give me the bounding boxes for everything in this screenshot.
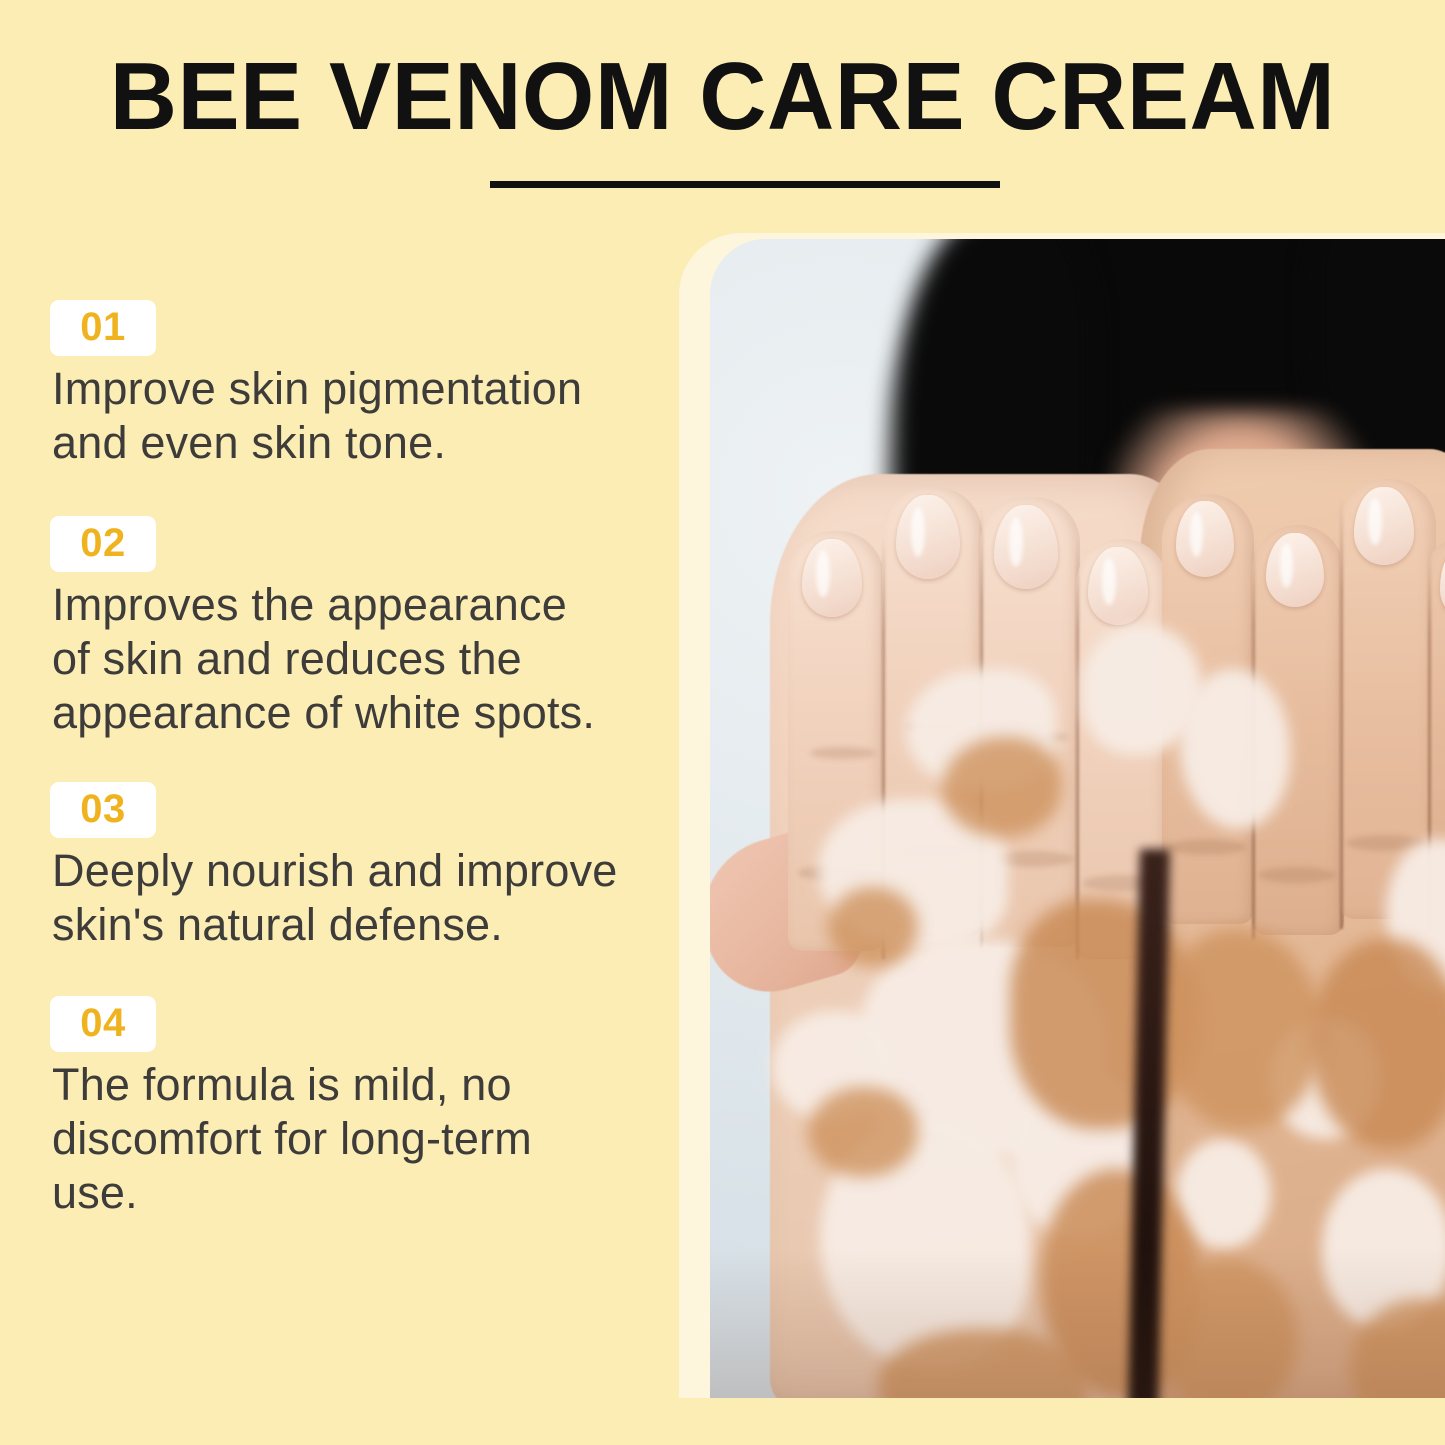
- feature-number-badge: 01: [50, 300, 156, 356]
- list-item: 02 Improves the appearance of skin and r…: [50, 516, 670, 740]
- fingernail: [1354, 487, 1414, 565]
- feature-number-badge: 04: [50, 996, 156, 1052]
- feature-description: Deeply nourish and improve skin's natura…: [52, 844, 657, 952]
- fingernail: [802, 539, 862, 617]
- photo-frame: [679, 233, 1445, 1398]
- knuckle-crease: [1168, 839, 1246, 855]
- wrist-shadow: [710, 1248, 1445, 1398]
- knuckle-crease: [1258, 867, 1336, 883]
- feature-number-badge: 02: [50, 516, 156, 572]
- pigmented-blotch: [942, 737, 1062, 837]
- feature-description: Improves the appearance of skin and redu…: [52, 578, 597, 740]
- list-item: 03 Deeply nourish and improve skin's nat…: [50, 782, 670, 952]
- fingernail: [1176, 501, 1234, 577]
- infographic-page: BEE VENOM CARE CREAM 01 Improve skin pig…: [0, 0, 1445, 1445]
- pigmented-blotch: [828, 887, 918, 967]
- page-title: BEE VENOM CARE CREAM: [22, 46, 1424, 148]
- fingernail: [896, 495, 960, 579]
- fingernail: [994, 505, 1058, 589]
- feature-list: 01 Improve skin pigmentation and even sk…: [50, 300, 670, 1226]
- pigmented-blotch: [808, 1087, 918, 1177]
- feature-number-badge: 03: [50, 782, 156, 838]
- feature-description: The formula is mild, no discomfort for l…: [52, 1058, 572, 1220]
- finger-separation: [1340, 499, 1343, 929]
- feature-description: Improve skin pigmentation and even skin …: [52, 362, 622, 470]
- fingernail: [1266, 533, 1324, 607]
- knuckle-crease: [810, 747, 876, 759]
- list-item: 01 Improve skin pigmentation and even sk…: [50, 300, 670, 470]
- title-underline-rule: [490, 181, 1000, 188]
- list-item: 04 The formula is mild, no discomfort fo…: [50, 996, 670, 1220]
- finger-separation: [1076, 539, 1079, 959]
- product-photo: [710, 239, 1445, 1398]
- pigmented-blotch: [1162, 929, 1322, 1129]
- fingernail: [1088, 547, 1148, 625]
